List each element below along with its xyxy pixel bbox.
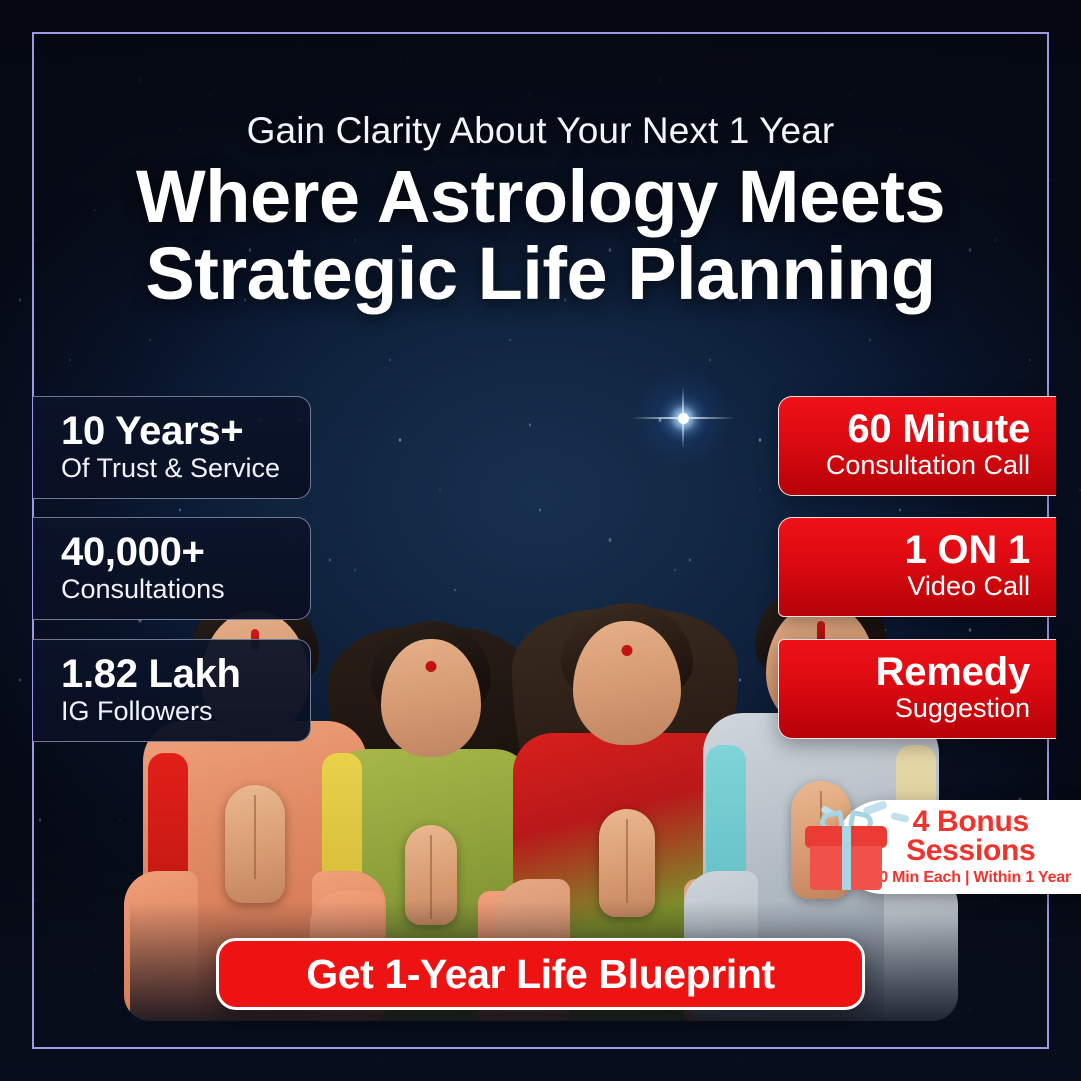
perk-label: Suggestion bbox=[779, 694, 1030, 722]
bonus-subtitle: 10 Min Each | Within 1 Year bbox=[871, 870, 1071, 886]
page-title: Where Astrology Meets Strategic Life Pla… bbox=[0, 159, 1081, 313]
perk-badge-video-call: 1 ON 1 Video Call bbox=[778, 517, 1056, 617]
perk-badge-remedy-suggestion: Remedy Suggestion bbox=[778, 639, 1056, 739]
stat-label: Of Trust & Service bbox=[61, 454, 310, 482]
stat-value: 1.82 Lakh bbox=[61, 654, 310, 694]
stat-badge-followers: 1.82 Lakh IG Followers bbox=[33, 639, 311, 742]
perk-badge-consultation-call: 60 Minute Consultation Call bbox=[778, 396, 1056, 496]
perk-value: Remedy bbox=[779, 652, 1030, 692]
stat-label: Consultations bbox=[61, 575, 310, 603]
perk-value: 60 Minute bbox=[779, 409, 1030, 449]
gift-box-icon bbox=[805, 812, 887, 890]
stat-value: 10 Years+ bbox=[61, 411, 310, 451]
title-line-1: Where Astrology Meets bbox=[0, 159, 1081, 236]
title-line-2: Strategic Life Planning bbox=[0, 236, 1081, 313]
promo-poster: Gain Clarity About Your Next 1 Year Wher… bbox=[0, 0, 1081, 1081]
perk-label: Consultation Call bbox=[779, 451, 1030, 479]
eyebrow-text: Gain Clarity About Your Next 1 Year bbox=[0, 112, 1081, 151]
perk-label: Video Call bbox=[779, 572, 1030, 600]
perk-value: 1 ON 1 bbox=[779, 530, 1030, 570]
get-blueprint-button[interactable]: Get 1-Year Life Blueprint bbox=[216, 938, 865, 1010]
stat-value: 40,000+ bbox=[61, 532, 310, 572]
bonus-title-line-1: 4 Bonus bbox=[871, 808, 1071, 837]
stat-label: IG Followers bbox=[61, 697, 310, 725]
stat-badge-years: 10 Years+ Of Trust & Service bbox=[33, 396, 311, 499]
bonus-title-line-2: Sessions bbox=[871, 837, 1071, 866]
headline-block: Gain Clarity About Your Next 1 Year Wher… bbox=[0, 112, 1081, 313]
cta-label: Get 1-Year Life Blueprint bbox=[306, 954, 774, 995]
stat-badge-consultations: 40,000+ Consultations bbox=[33, 517, 311, 620]
